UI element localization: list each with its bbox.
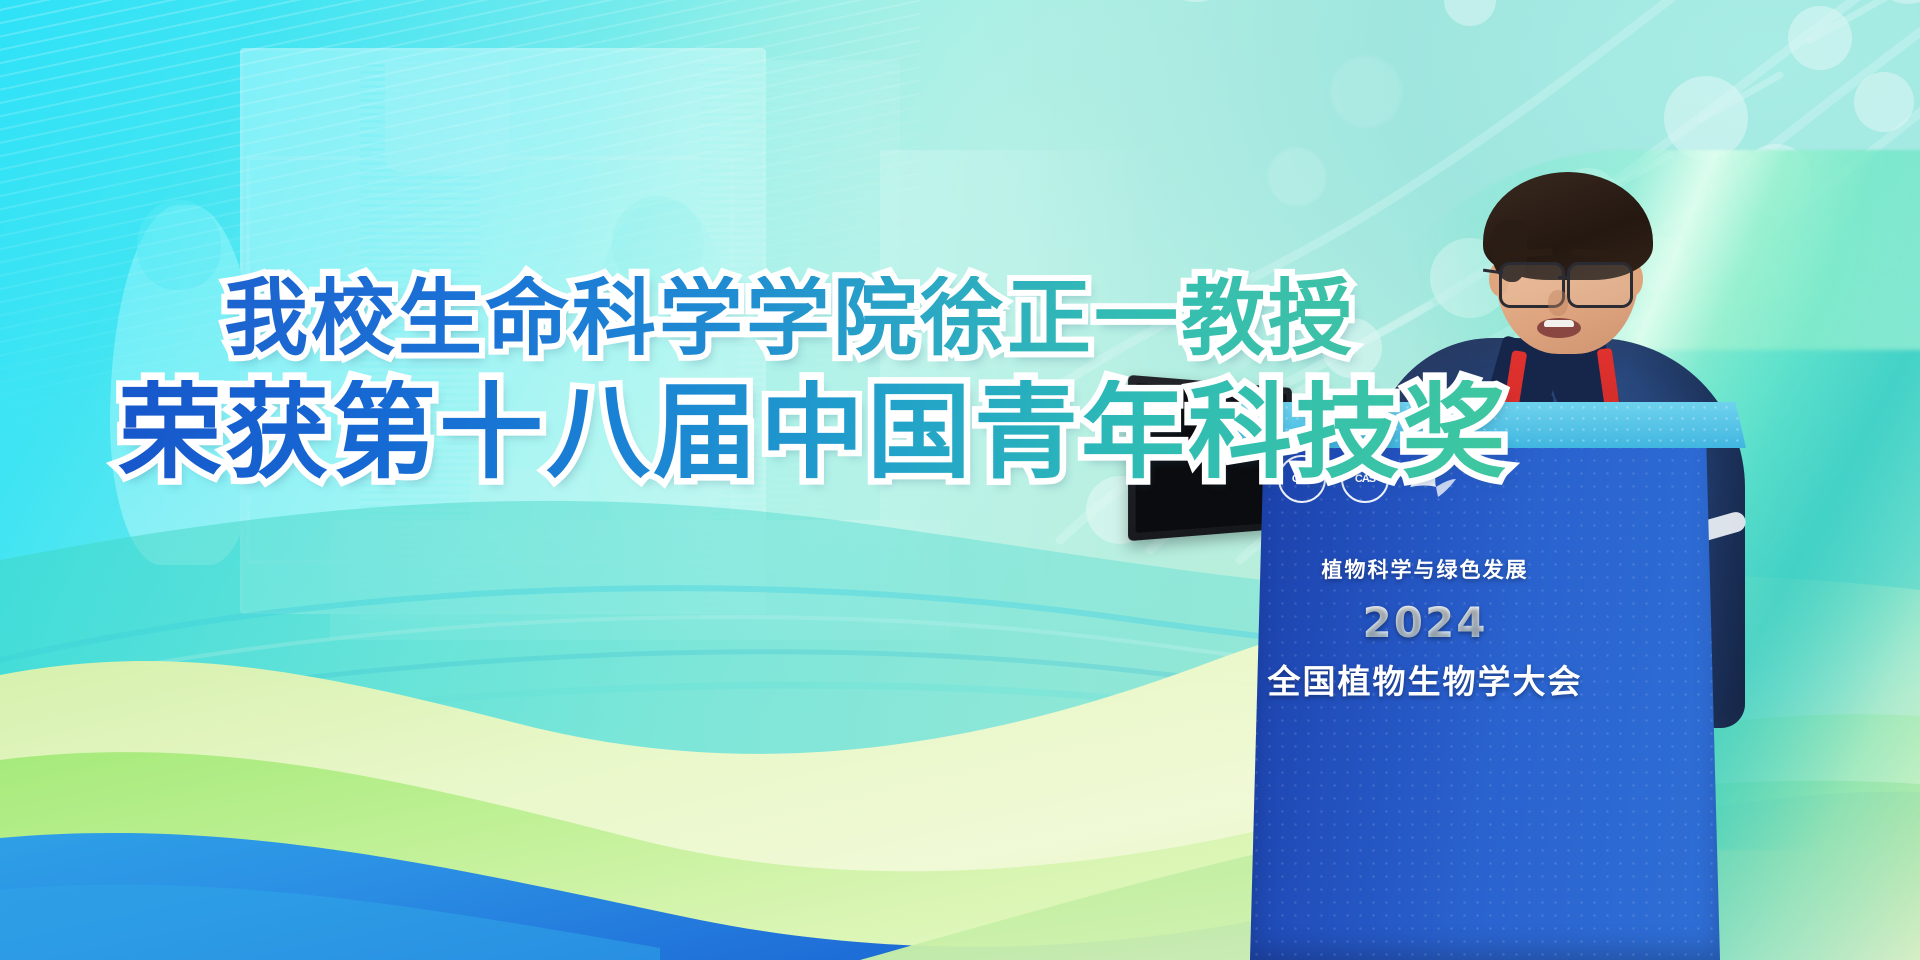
podium-theme-text: 植物科学与绿色发展 bbox=[1190, 554, 1660, 584]
podium-year-text: 2024 bbox=[1190, 598, 1660, 647]
headline-line-1-text: 我校生命科学学院徐正一教授 bbox=[224, 276, 1355, 360]
headline-line-2-text: 荣获第十八届中国青年科技奖 bbox=[118, 380, 1509, 484]
news-banner: 我校生命科学学院徐正一教授 我校生命科学学院徐正一教授 荣获第十八届中国青年科技… bbox=[0, 0, 1920, 960]
eyeglasses-icon bbox=[1567, 262, 1633, 308]
bokeh-dot bbox=[1330, 56, 1402, 128]
headline-line-2: 荣获第十八届中国青年科技奖 荣获第十八届中国青年科技奖 bbox=[118, 380, 1278, 484]
headline-block: 我校生命科学学院徐正一教授 我校生命科学学院徐正一教授 荣获第十八届中国青年科技… bbox=[118, 276, 1278, 484]
podium-conference-text: 全国植物生物学大会 bbox=[1190, 655, 1660, 703]
headline-line-1: 我校生命科学学院徐正一教授 我校生命科学学院徐正一教授 bbox=[224, 276, 1278, 360]
bokeh-dot bbox=[1268, 148, 1326, 206]
